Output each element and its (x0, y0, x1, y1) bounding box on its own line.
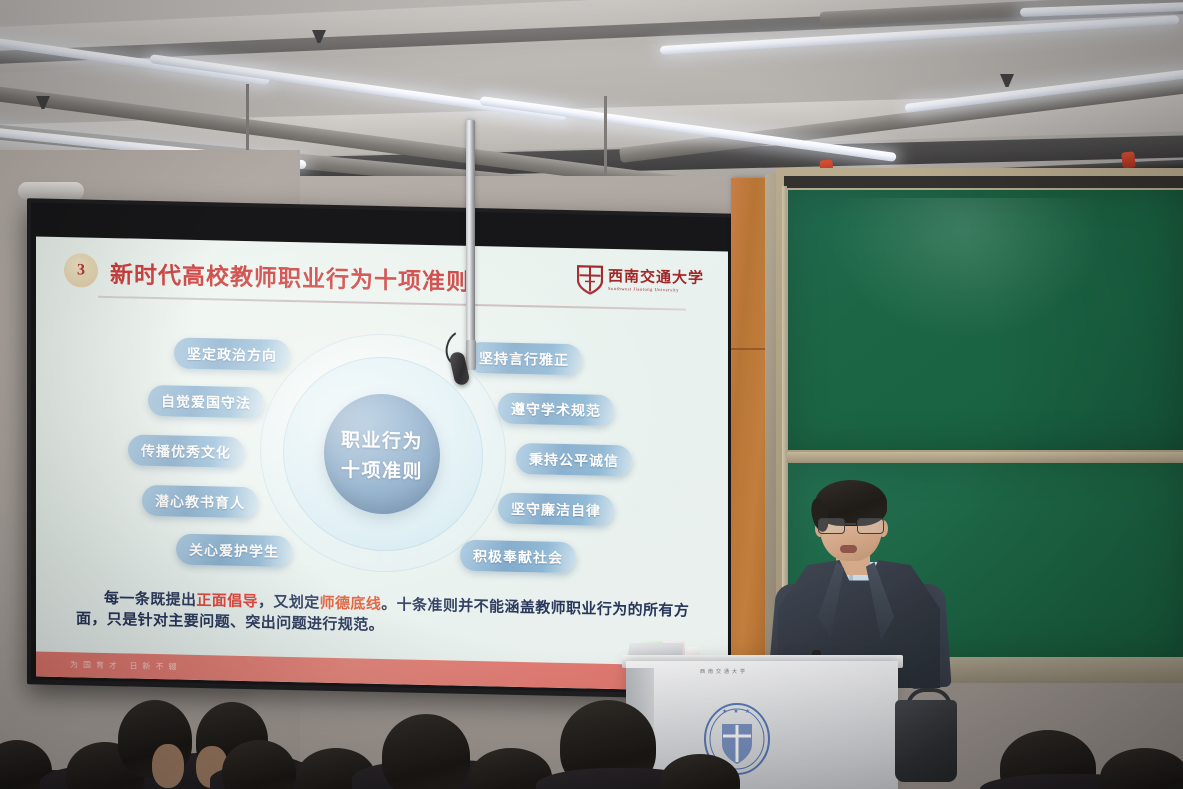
principle-pill-right-4: 坚守廉洁自律 (498, 493, 614, 527)
sprinkler-head-5 (1121, 151, 1136, 168)
principle-pill-right-3: 秉持公平诚信 (516, 443, 632, 477)
svg-text:★ ★ ★: ★ ★ ★ (722, 708, 752, 715)
slide-section-badge: 3 (64, 253, 98, 288)
slide-section-number: 3 (77, 261, 85, 279)
microphone-pole (466, 120, 475, 365)
wood-wall-panel (731, 178, 767, 683)
center-text-line2: 十项准则 (341, 455, 423, 484)
ceiling-hanger-2 (604, 96, 607, 180)
glasses-lens-left (818, 518, 845, 534)
university-name-block: 西南交通大学 Southwest Jiaotong University (608, 269, 704, 293)
diagram-center-circle: 职业行为 十项准则 (324, 393, 440, 516)
speaker-mouth (840, 545, 857, 553)
shield-icon (577, 264, 603, 295)
audience-head-7 (382, 714, 470, 789)
paragraph-part-2: ，又划定 (258, 592, 320, 611)
center-text-line1: 职业行为 (341, 425, 423, 454)
presentation-slide: 3 新时代高校教师职业行为十项准则 西南交通大学 Southwest Jiaot… (36, 236, 728, 691)
projection-screen: 3 新时代高校教师职业行为十项准则 西南交通大学 Southwest Jiaot… (27, 198, 737, 699)
blackboard-panel-upper (788, 190, 1183, 450)
principle-pill-left-4: 潜心教书育人 (142, 485, 258, 519)
principle-pill-left-2: 自觉爱国守法 (148, 385, 264, 419)
principle-pill-left-5: 关心爱护学生 (176, 534, 292, 568)
principle-pill-left-3: 传播优秀文化 (128, 434, 244, 468)
podium-small-label: 西南交通大学 (700, 668, 748, 675)
glasses-icon (818, 518, 884, 533)
glasses-bridge (843, 523, 856, 525)
principle-pill-right-5: 积极奉献社会 (460, 540, 576, 574)
slide-footer-motto: 为国育才 日新不辍 (70, 659, 182, 672)
lecture-hall-photo: 3 新时代高校教师职业行为十项准则 西南交通大学 Southwest Jiaot… (0, 0, 1183, 789)
slide-paragraph: 每一条既提出正面倡导，又划定师德底线。十条准则并不能涵盖教师职业行为的所有方面，… (76, 587, 692, 643)
slide-title: 新时代高校教师职业行为十项准则 (110, 255, 470, 297)
principle-pill-right-1: 坚持言行雅正 (466, 342, 582, 376)
university-logo: 西南交通大学 Southwest Jiaotong University (577, 264, 704, 297)
paragraph-highlight-2: 师德底线 (320, 594, 382, 613)
glasses-lens-right (857, 518, 884, 534)
blackboard-top-shadow (784, 176, 1183, 188)
audience-face-3 (152, 744, 184, 788)
paragraph-highlight-1: 正面倡导 (196, 591, 258, 610)
university-name-cn: 西南交通大学 (608, 269, 704, 286)
briefcase (895, 700, 957, 782)
principle-pill-left-1: 坚定政治方向 (174, 337, 290, 371)
paragraph-part-1: 每一条既提出 (104, 589, 196, 609)
principle-pill-right-2: 遵守学术规范 (498, 393, 614, 427)
wood-panel-seam (731, 348, 767, 350)
slide-title-rule (98, 296, 686, 311)
blackboard-divider (784, 452, 1183, 463)
university-name-en: Southwest Jiaotong University (608, 286, 704, 293)
